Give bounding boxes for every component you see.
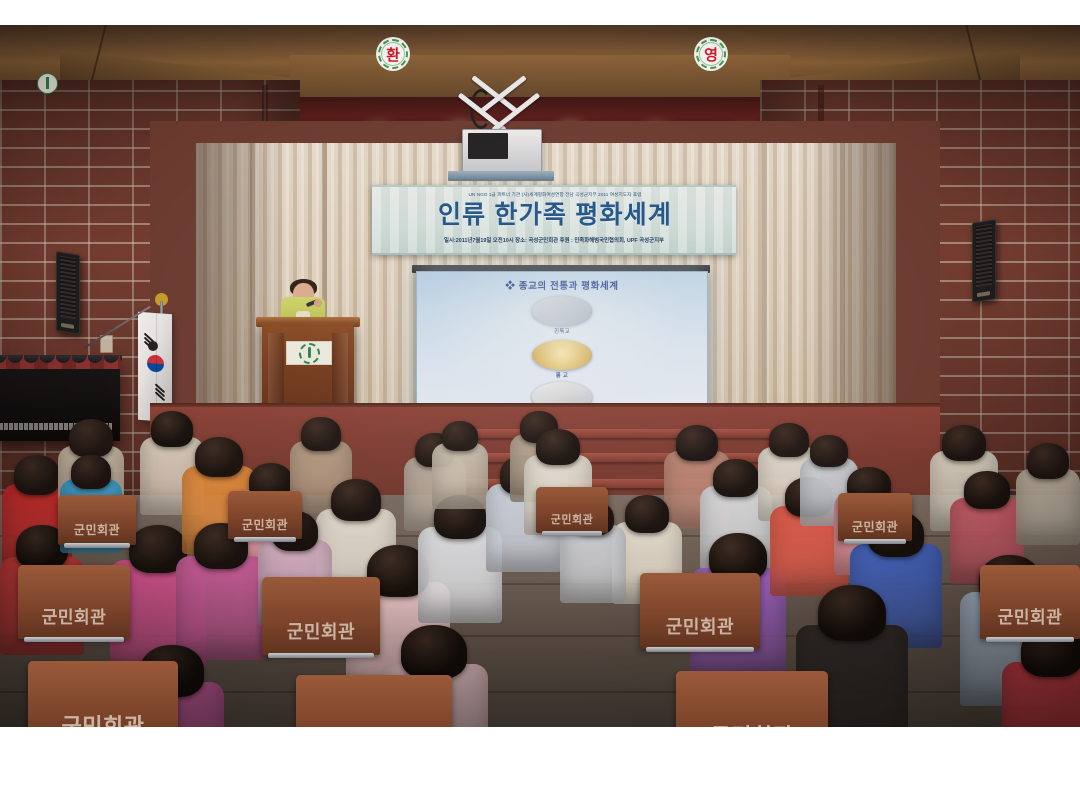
auditorium-seat[interactable]: 군민회관	[676, 671, 828, 727]
audience-member-head	[331, 479, 381, 521]
auditorium-seat[interactable]: 군민회관	[18, 565, 130, 639]
audience-member-head	[810, 435, 848, 467]
audience-member-head	[818, 585, 886, 641]
seat-back-label: 군민회관	[676, 719, 828, 727]
seat-leg	[646, 647, 754, 652]
audience-member-head	[301, 417, 341, 451]
audience-member-head	[14, 455, 60, 495]
conference-photo: UN NGO 1급 파트너 기관 (사)세계평화여성연합 전남 곡성군지부 20…	[0, 25, 1080, 727]
seat-leg	[542, 531, 602, 536]
seat-back-label: 군민회관	[262, 618, 380, 644]
seat-back-label: 군민회관	[58, 521, 136, 538]
audience-member-torso	[560, 525, 626, 603]
audience-member-head	[71, 455, 111, 489]
seat-back-label: 군민회관	[536, 511, 608, 527]
seat-leg	[844, 539, 906, 544]
seat-back-label: 군민회관	[228, 516, 302, 533]
auditorium-seat[interactable]: 군민회관	[228, 491, 302, 539]
seat-leg	[24, 637, 124, 642]
seat-back-label: 군민회관	[296, 723, 452, 727]
audience-layer	[0, 25, 1080, 727]
seat-back-label: 군민회관	[640, 613, 760, 639]
seat-back-label: 군민회관	[18, 603, 130, 628]
auditorium-seat[interactable]: 군민회관	[262, 577, 380, 655]
seat-leg	[234, 537, 296, 542]
audience-member-head	[401, 625, 467, 679]
auditorium-seat[interactable]: 군민회관	[296, 675, 452, 727]
audience-member-head	[1027, 443, 1069, 479]
seat-back-label: 군민회관	[28, 709, 178, 727]
audience-member-head	[536, 429, 580, 465]
audience-member-head	[69, 419, 113, 457]
seat-back-label: 군민회관	[838, 518, 912, 535]
seat-back-label: 군민회관	[980, 603, 1080, 628]
seat-leg	[986, 637, 1074, 642]
audience-member-head	[942, 425, 986, 461]
audience-member-torso	[432, 443, 488, 509]
auditorium-seat[interactable]: 군민회관	[838, 493, 912, 541]
auditorium-seat[interactable]: 군민회관	[640, 573, 760, 649]
auditorium-seat[interactable]: 군민회관	[58, 495, 136, 545]
auditorium-seat[interactable]: 군민회관	[980, 565, 1080, 639]
audience-member	[432, 421, 488, 517]
seat-leg	[268, 653, 374, 658]
auditorium-seat[interactable]: 군민회관	[536, 487, 608, 533]
seat-leg	[64, 543, 130, 548]
photograph-canvas: UN NGO 1급 파트너 기관 (사)세계평화여성연합 전남 곡성군지부 20…	[0, 0, 1080, 800]
auditorium-seat[interactable]: 군민회관	[28, 661, 178, 727]
audience-member-torso	[1016, 469, 1080, 545]
audience-member-head	[964, 471, 1010, 509]
audience-member-head	[713, 459, 759, 497]
audience-member	[1016, 443, 1080, 555]
audience-member-head	[676, 425, 718, 461]
audience-member-head	[625, 495, 669, 533]
audience-member-head	[442, 421, 478, 451]
